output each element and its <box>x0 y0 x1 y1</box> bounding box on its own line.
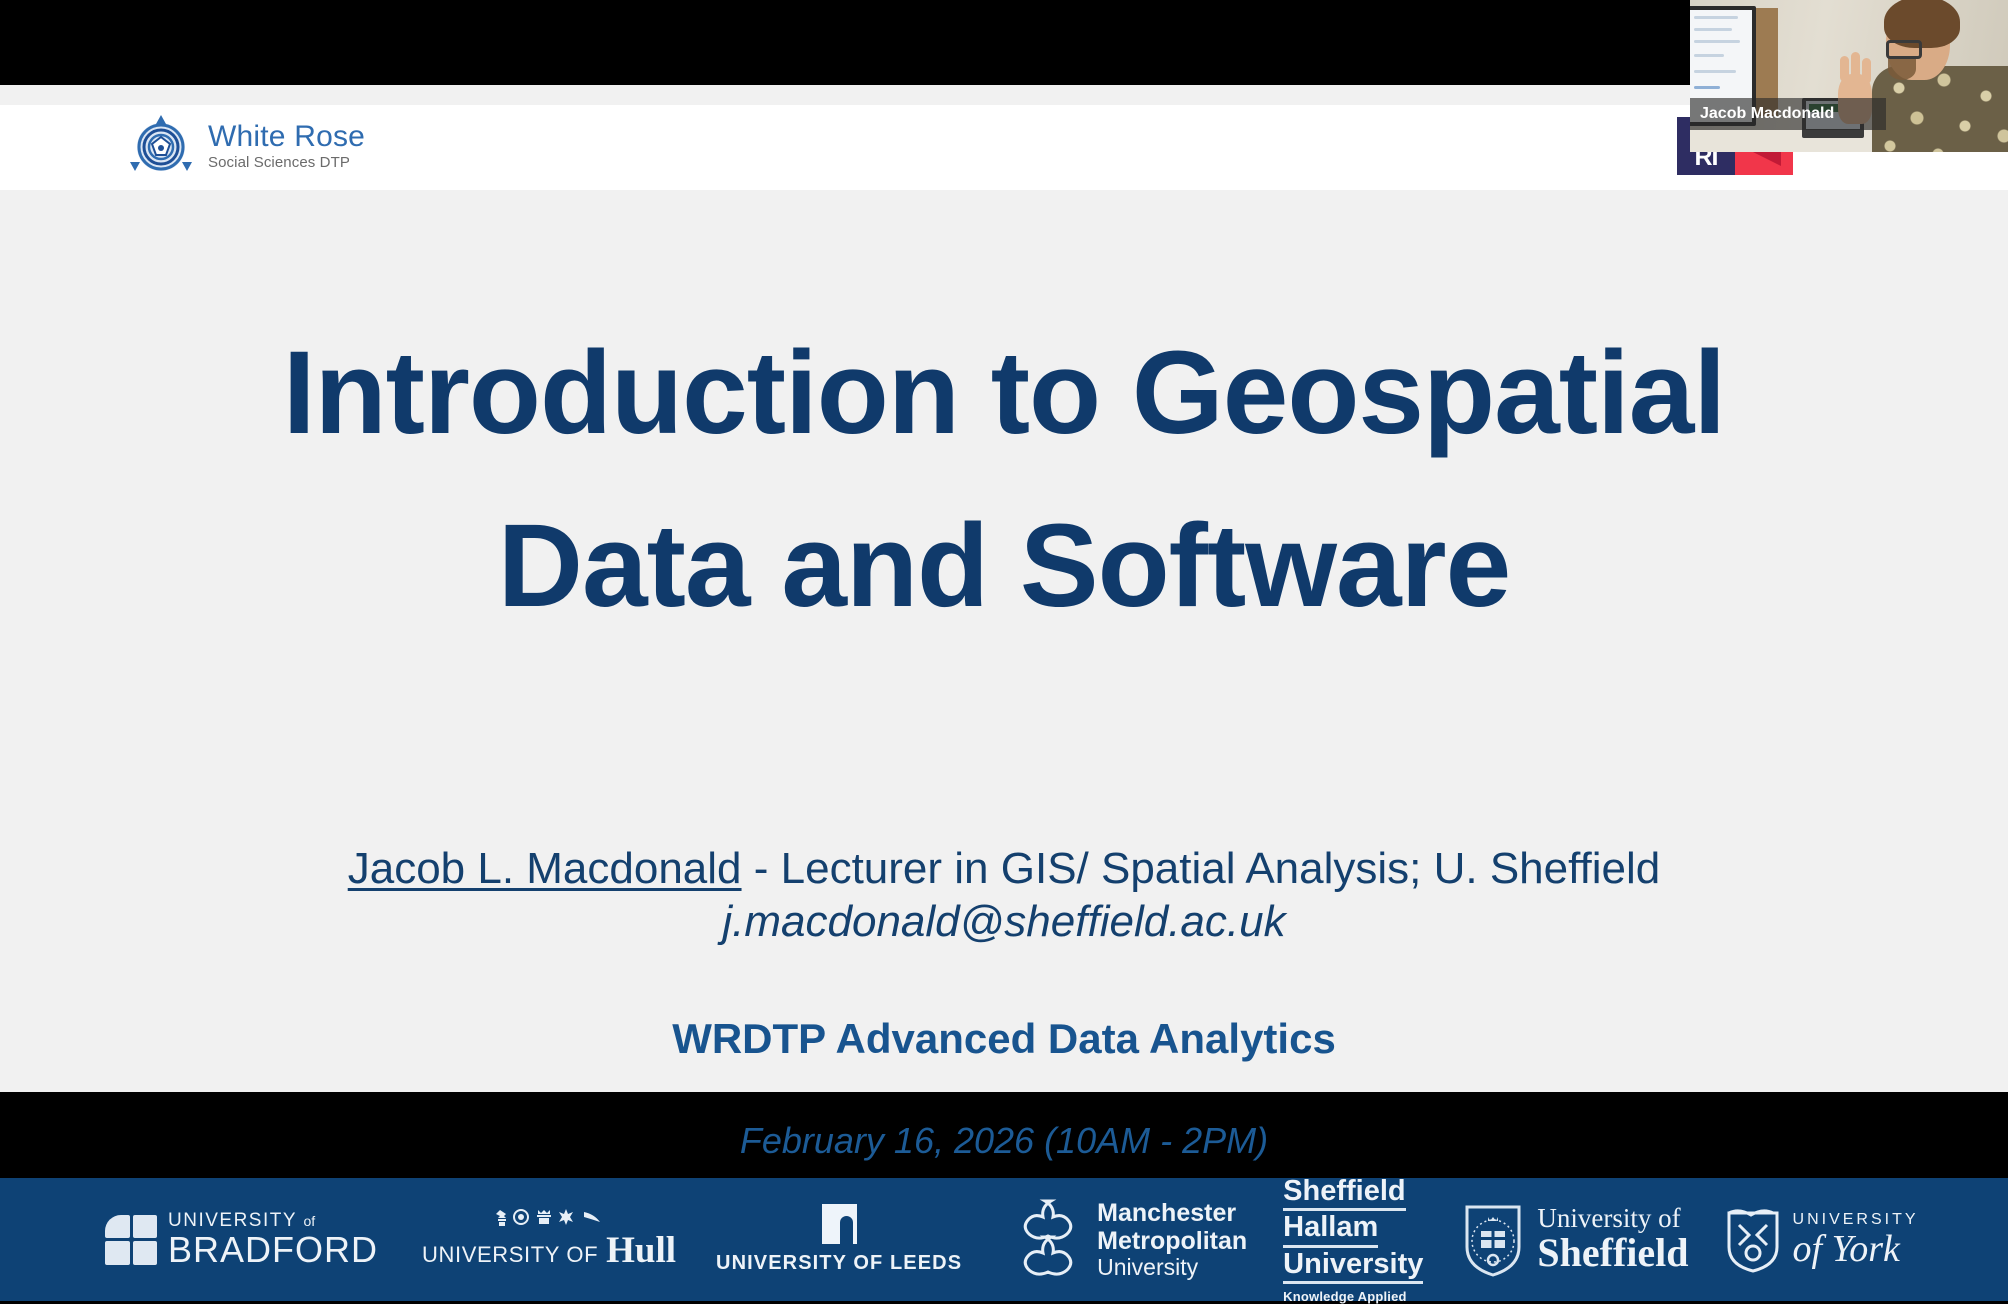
mmu-line-3: University <box>1097 1255 1247 1281</box>
monitor-content-line <box>1694 54 1724 57</box>
monitor-content-line <box>1694 16 1738 19</box>
shu-line-1: Sheffield <box>1283 1175 1405 1211</box>
white-rose-logo: White Rose Social Sciences DTP <box>128 113 365 179</box>
york-line-1: UNIVERSITY <box>1793 1212 1919 1228</box>
presenter-email: j.macdonald@sheffield.ac.uk <box>0 897 2008 947</box>
presenter-byline: Jacob L. Macdonald - Lecturer in GIS/ Sp… <box>0 843 2008 895</box>
mmu-trefoil-icon <box>1006 1197 1084 1283</box>
hull-heraldic-icons <box>494 1208 604 1228</box>
leeds-label: UNIVERSITY OF LEEDS <box>716 1252 962 1275</box>
sheffield-shield-icon <box>1463 1203 1523 1277</box>
slide-title-line-1: Introduction to Geospatial <box>0 332 2008 456</box>
video-person-finger <box>1862 58 1871 84</box>
monitor-content-line <box>1694 28 1732 31</box>
mmu-line-2: Metropolitan <box>1097 1227 1247 1255</box>
participant-name-label: Jacob Macdonald <box>1690 98 1886 130</box>
hull-line-2: Hull <box>606 1229 676 1272</box>
slide-title-line-2: Data and Software <box>0 505 2008 629</box>
logo-sheffield-hallam-university: Sheffield Hallam University Knowledge Ap… <box>1283 1175 1423 1304</box>
video-person-finger <box>1840 56 1849 82</box>
video-person-shirt-pattern <box>1872 66 2008 152</box>
partner-universities-footer: UNIVERSITY of BRADFORD <box>0 1178 2008 1301</box>
hull-line-1: UNIVERSITY OF <box>422 1242 598 1268</box>
course-title: WRDTP Advanced Data Analytics <box>0 1015 2008 1063</box>
screen-share-viewport: White Rose Social Sciences DTP UK RI Int… <box>0 0 2008 1304</box>
shu-tagline: Knowledge Applied <box>1283 1289 1407 1304</box>
monitor-content-line <box>1694 86 1720 89</box>
logo-manchester-metropolitan-university: Manchester Metropolitan University <box>1006 1197 1247 1283</box>
white-rose-subtitle: Social Sciences DTP <box>208 155 365 170</box>
video-person-finger <box>1851 52 1860 82</box>
leeds-tower-icon <box>822 1204 857 1244</box>
shu-line-2: Hallam <box>1283 1211 1378 1247</box>
white-rose-title: White Rose <box>208 122 365 152</box>
bradford-line-2: BRADFORD <box>168 1232 378 1268</box>
york-line-2: of York <box>1793 1230 1919 1268</box>
monitor-content-line <box>1694 70 1736 73</box>
monitor-content-line <box>1694 40 1740 43</box>
york-crest-icon <box>1725 1207 1781 1273</box>
shu-line-3: University <box>1283 1248 1423 1284</box>
logo-university-of-sheffield: University of Sheffield <box>1463 1203 1688 1277</box>
logo-university-of-hull: UNIVERSITY OF Hull <box>422 1208 676 1272</box>
white-rose-mandala-icon <box>128 113 194 179</box>
session-date: February 16, 2026 (10AM - 2PM) <box>0 1120 2008 1162</box>
bradford-line-1: UNIVERSITY of <box>168 1211 378 1230</box>
logo-university-of-york: UNIVERSITY of York <box>1725 1207 1919 1273</box>
logo-university-of-leeds: UNIVERSITY OF LEEDS <box>716 1204 962 1275</box>
presentation-slide: White Rose Social Sciences DTP UK RI Int… <box>0 85 2008 1092</box>
participant-video-tile[interactable]: Jacob Macdonald <box>1690 0 2008 152</box>
presenter-role: - Lecturer in GIS/ Spatial Analysis; U. … <box>742 844 1661 893</box>
video-person-beard <box>1888 58 1916 80</box>
white-rose-wordmark: White Rose Social Sciences DTP <box>208 122 365 170</box>
sheffield-line-2: Sheffield <box>1537 1233 1688 1274</box>
video-person-glasses-icon <box>1886 40 1922 59</box>
logo-university-of-bradford: UNIVERSITY of BRADFORD <box>105 1211 378 1268</box>
presenter-name: Jacob L. Macdonald <box>348 844 742 893</box>
mmu-line-1: Manchester <box>1097 1199 1247 1227</box>
bradford-shield-icon <box>105 1215 157 1265</box>
sheffield-line-1: University of <box>1537 1205 1688 1233</box>
